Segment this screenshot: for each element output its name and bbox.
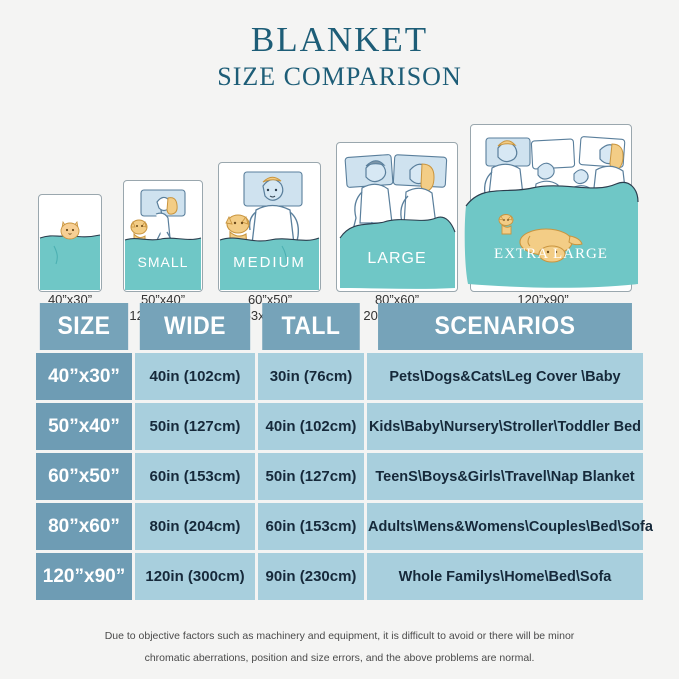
cell-tall: 90in (230cm): [258, 553, 364, 600]
cell-wide: 80in (204cm): [135, 503, 255, 550]
cell-wide: 40in (102cm): [135, 353, 255, 400]
page-title: BLANKET SIZE COMPARISON: [0, 0, 679, 92]
girl-and-dog-icon: [123, 180, 203, 292]
size-comparison-table: SIZE WIDE TALL SCENARIOS 40”x30” 40in (1…: [33, 300, 646, 603]
couple-in-bed-icon: [336, 142, 458, 292]
cell-size: 60”x50”: [36, 453, 132, 500]
cell-scenarios: Kids\Baby\Nursery\Stroller\Toddler Bed: [367, 403, 643, 450]
table-row: 40”x30” 40in (102cm) 30in (76cm) Pets\Do…: [36, 353, 643, 400]
column-header-scenarios: SCENARIOS: [378, 303, 632, 350]
illustration-80x60: LARGE: [336, 142, 458, 292]
column-header-wide: WIDE: [140, 303, 250, 350]
table-header-row: SIZE WIDE TALL SCENARIOS: [36, 303, 643, 350]
man-and-dog-icon: [218, 162, 321, 292]
disclaimer-line-2: chromatic aberrations, position and size…: [0, 647, 679, 669]
cell-size: 80”x60”: [36, 503, 132, 550]
cell-size: 120”x90”: [36, 553, 132, 600]
cell-scenarios: Whole Familys\Home\Bed\Sofa: [367, 553, 643, 600]
cell-tall: 60in (153cm): [258, 503, 364, 550]
cell-wide: 50in (127cm): [135, 403, 255, 450]
cell-size: 50”x40”: [36, 403, 132, 450]
title-sub: SIZE COMPARISON: [0, 61, 679, 92]
cat-under-blanket-icon: [38, 194, 102, 292]
table-row: 120”x90” 120in (300cm) 90in (230cm) Whol…: [36, 553, 643, 600]
table-row: 80”x60” 80in (204cm) 60in (153cm) Adults…: [36, 503, 643, 550]
illustration-120x90: EXTRA LARGE: [462, 124, 640, 292]
illustration-40x30: [38, 194, 102, 292]
disclaimer-line-1: Due to objective factors such as machine…: [0, 625, 679, 647]
table-row: 60”x50” 60in (153cm) 50in (127cm) TeenS\…: [36, 453, 643, 500]
column-header-tall: TALL: [262, 303, 360, 350]
cell-tall: 50in (127cm): [258, 453, 364, 500]
illustration-row: SMALL: [0, 102, 679, 292]
disclaimer: Due to objective factors such as machine…: [0, 625, 679, 669]
cell-scenarios: Pets\Dogs&Cats\Leg Cover \Baby: [367, 353, 643, 400]
cell-tall: 40in (102cm): [258, 403, 364, 450]
cell-size: 40”x30”: [36, 353, 132, 400]
cell-tall: 30in (76cm): [258, 353, 364, 400]
illustration-50x40: SMALL: [123, 180, 203, 292]
cell-scenarios: Adults\Mens&Womens\Couples\Bed\Sofa: [367, 503, 643, 550]
cell-wide: 60in (153cm): [135, 453, 255, 500]
table-row: 50”x40” 50in (127cm) 40in (102cm) Kids\B…: [36, 403, 643, 450]
cell-scenarios: TeenS\Boys&Girls\Travel\Nap Blanket: [367, 453, 643, 500]
column-header-size: SIZE: [40, 303, 128, 350]
cell-wide: 120in (300cm): [135, 553, 255, 600]
illustration-60x50: MEDIUM: [218, 162, 321, 292]
family-and-dogs-icon: [462, 124, 640, 292]
title-main: BLANKET: [0, 22, 679, 59]
